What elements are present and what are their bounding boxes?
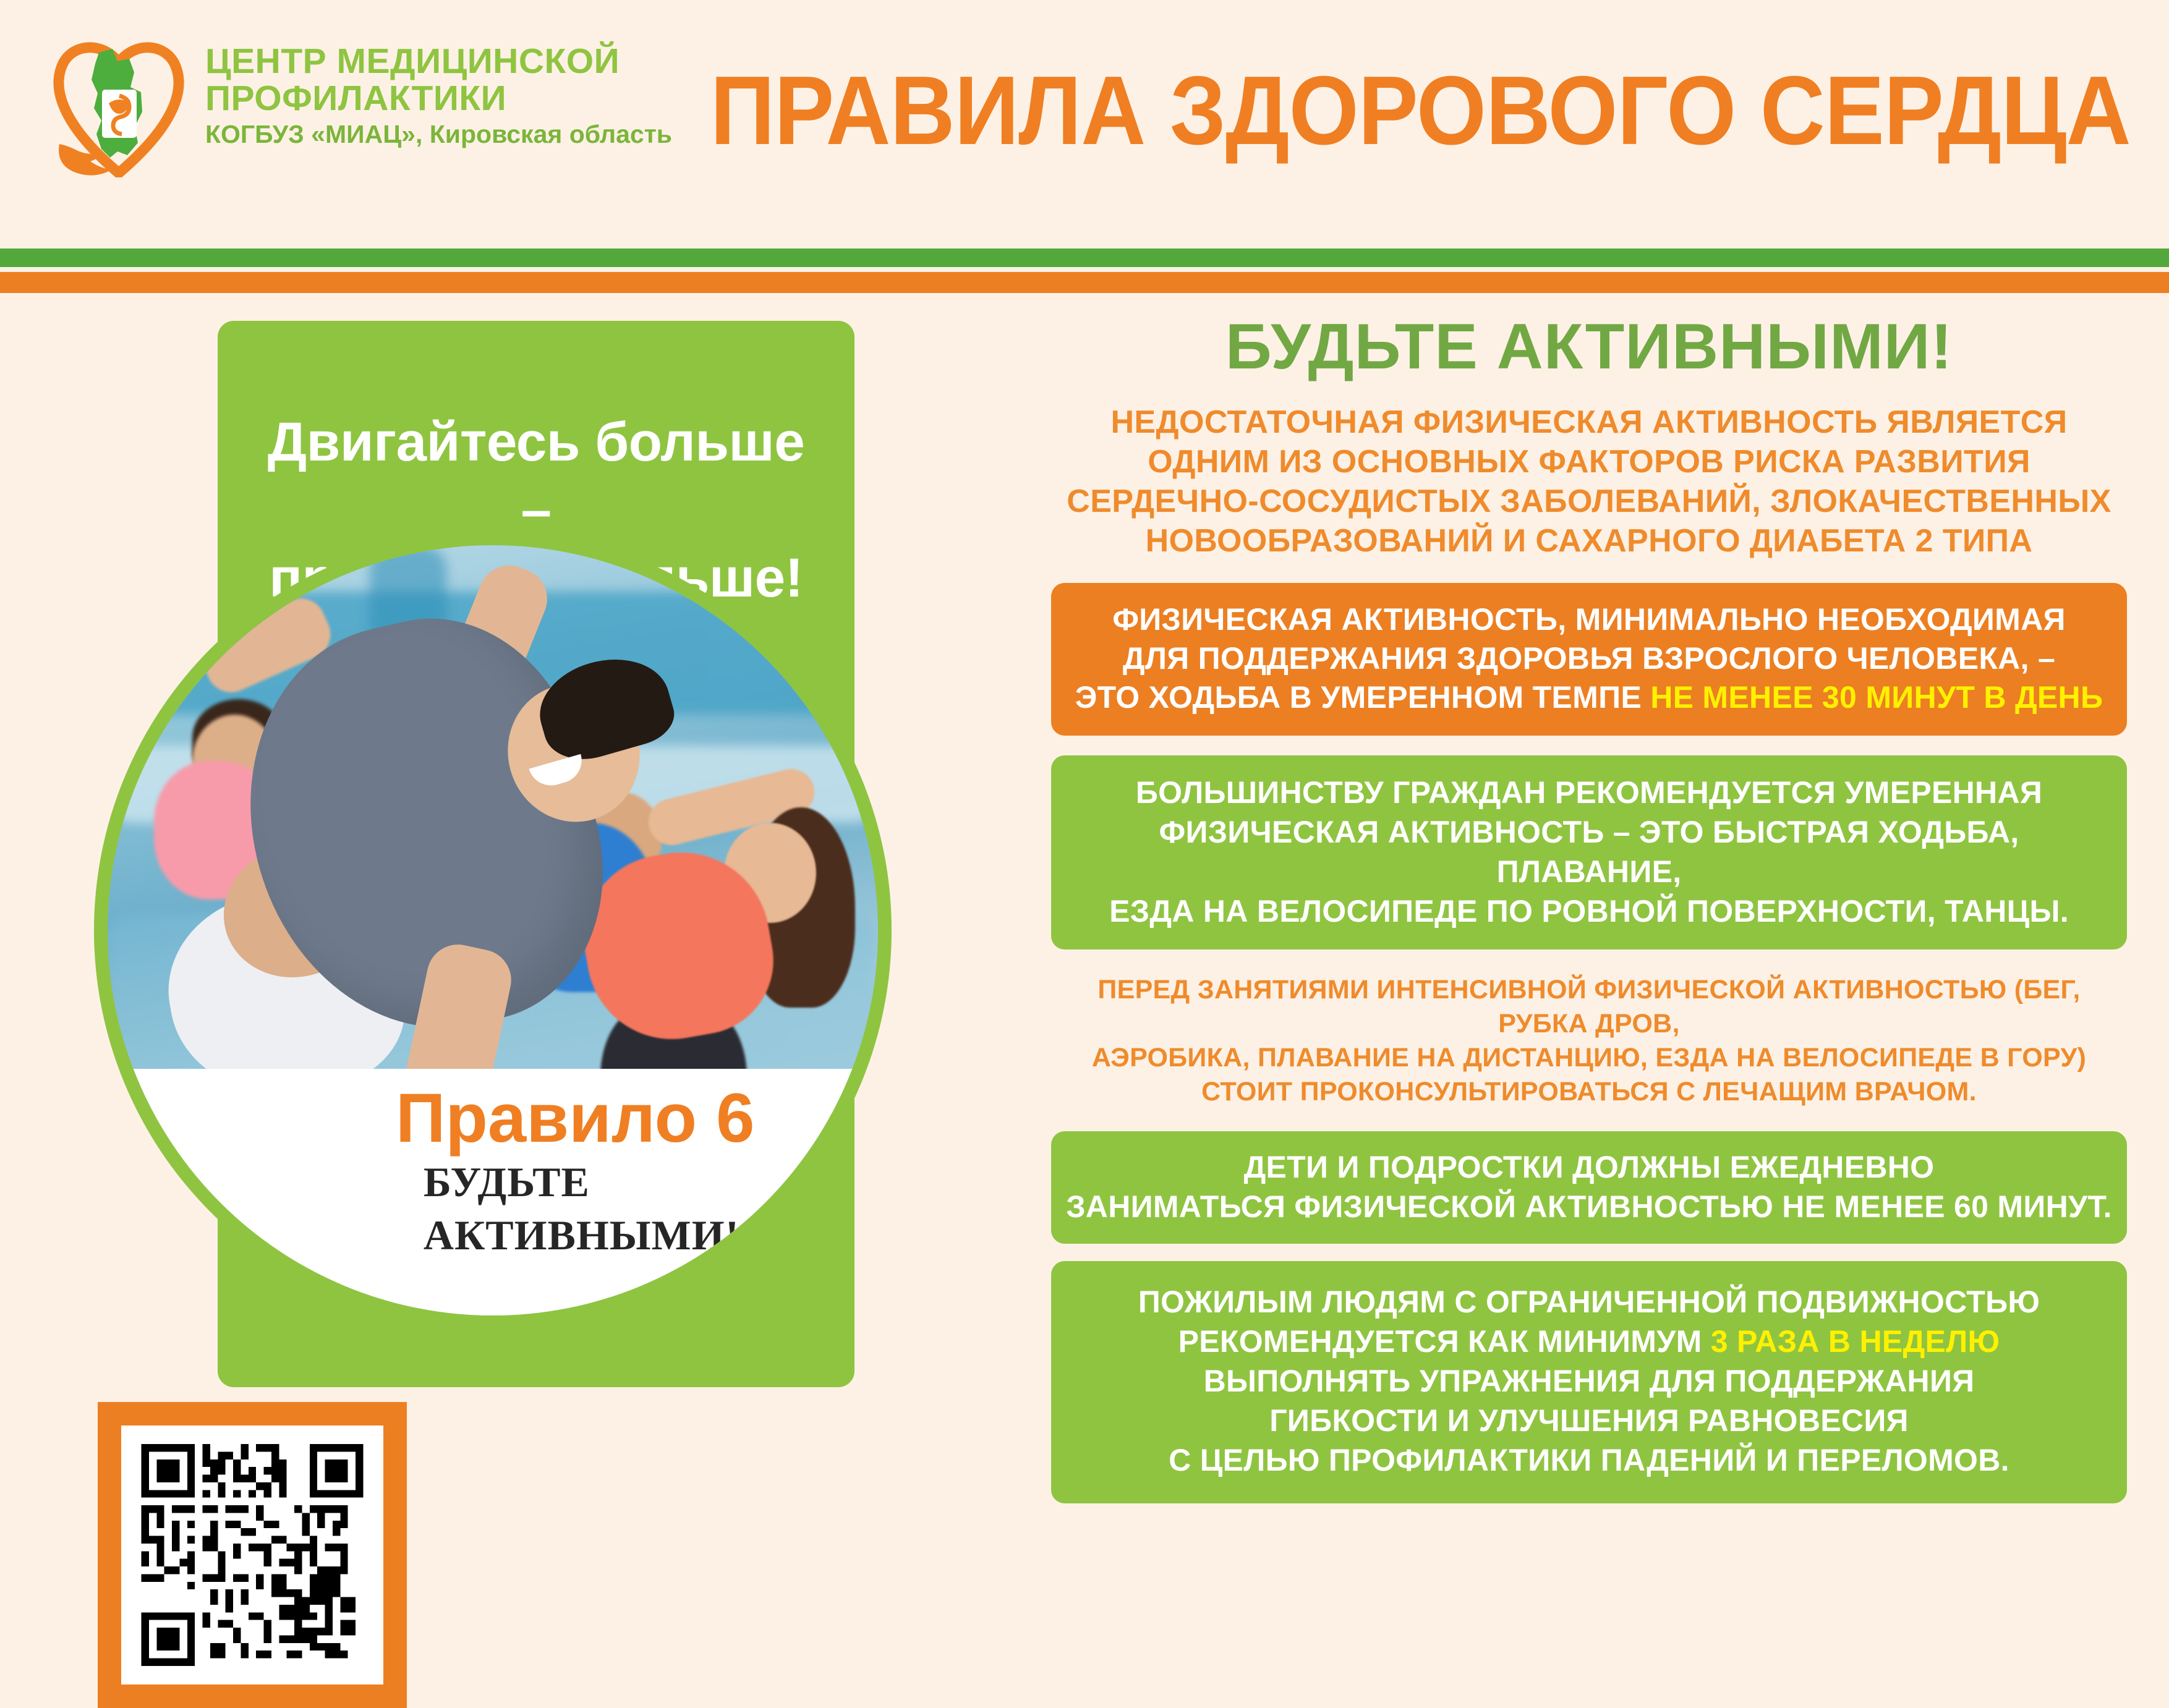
divider-bar-orange — [0, 272, 2169, 293]
logo-line-1: ЦЕНТР МЕДИЦИНСКОЙ — [205, 43, 672, 80]
info-line-plain: ЭТО ХОДЬБА В УМЕРЕННОМ ТЕМПЕ — [1075, 680, 1650, 715]
page-title: ПРАВИЛА ЗДОРОВОГО СЕРДЦА — [710, 62, 2131, 159]
intro-line: НЕДОСТАТОЧНАЯ ФИЗИЧЕСКАЯ АКТИВНОСТЬ ЯВЛЯ… — [1051, 402, 2127, 442]
info-line: БОЛЬШИНСТВУ ГРАЖДАН РЕКОМЕНДУЕТСЯ УМЕРЕН… — [1066, 773, 2112, 812]
photo-circle: БУДЬТЕ АКТИВНЫМИ! — [94, 532, 892, 1329]
left-visual-column: Двигайтесь больше – проживете дольше! — [0, 312, 965, 1499]
intro-line: НОВООБРАЗОВАНИЙ И САХАРНОГО ДИАБЕТА 2 ТИ… — [1051, 521, 2127, 561]
organization-name: ЦЕНТР МЕДИЦИНСКОЙ ПРОФИЛАКТИКИ КОГБУЗ «М… — [205, 34, 672, 151]
info-line: ВЫПОЛНЯТЬ УПРАЖНЕНИЯ ДЛЯ ПОДДЕРЖАНИЯ — [1066, 1361, 2112, 1401]
right-content-column: БУДЬТЕ АКТИВНЫМИ! НЕДОСТАТОЧНАЯ ФИЗИЧЕСК… — [1051, 312, 2127, 1503]
info-line: АЭРОБИКА, ПЛАВАНИЕ НА ДИСТАНЦИЮ, ЕЗДА НА… — [1057, 1041, 2121, 1075]
info-line: ЭТО ХОДЬБА В УМЕРЕННОМ ТЕМПЕ НЕ МЕНЕЕ 30… — [1065, 678, 2113, 717]
qr-code-quiet-zone — [121, 1425, 383, 1685]
circle-caption: БУДЬТЕ АКТИВНЫМИ! — [424, 1155, 847, 1262]
info-line: ФИЗИЧЕСКАЯ АКТИВНОСТЬ, МИНИМАЛЬНО НЕОБХО… — [1065, 600, 2113, 639]
logo-line-2: ПРОФИЛАКТИКИ — [205, 80, 672, 117]
info-block-consult-doctor: ПЕРЕД ЗАНЯТИЯМИ ИНТЕНСИВНОЙ ФИЗИЧЕСКОЙ А… — [1051, 959, 2127, 1123]
info-line: ЗАНИМАТЬСЯ ФИЗИЧЕСКОЙ АКТИВНОСТЬЮ НЕ МЕН… — [1066, 1187, 2112, 1226]
highlight-30-minutes: НЕ МЕНЕЕ 30 МИНУТ В ДЕНЬ — [1650, 680, 2103, 715]
info-line: ПОЖИЛЫМ ЛЮДЯМ С ОГРАНИЧЕННОЙ ПОДВИЖНОСТЬ… — [1066, 1282, 2112, 1322]
info-line: ПЕРЕД ЗАНЯТИЯМИ ИНТЕНСИВНОЙ ФИЗИЧЕСКОЙ А… — [1057, 973, 2121, 1041]
qr-code-frame[interactable] — [98, 1402, 407, 1708]
heart-map-caduceus-logo-icon — [48, 34, 189, 177]
aerobics-photo: БУДЬТЕ АКТИВНЫМИ! — [108, 545, 878, 1315]
slogan-line-1: Двигайтесь больше – — [255, 407, 817, 543]
intro-line: СЕРДЕЧНО-СОСУДИСТЫХ ЗАБОЛЕВАНИЙ, ЗЛОКАЧЕ… — [1051, 482, 2127, 521]
intro-paragraph: НЕДОСТАТОЧНАЯ ФИЗИЧЕСКАЯ АКТИВНОСТЬ ЯВЛЯ… — [1051, 402, 2127, 561]
divider-bar-green — [0, 249, 2169, 267]
info-line-plain: РЕКОМЕНДУЕТСЯ КАК МИНИМУМ — [1178, 1324, 1711, 1359]
logo-line-3: КОГБУЗ «МИАЦ», Кировская область — [205, 117, 672, 151]
section-heading: БУДЬТЕ АКТИВНЫМИ! — [1051, 312, 2127, 381]
highlight-3-times-week: 3 РАЗА В НЕДЕЛЮ — [1711, 1324, 2000, 1359]
circle-caption-line-2: АКТИВНЫМИ! — [424, 1209, 847, 1262]
info-block-minimum-activity: ФИЗИЧЕСКАЯ АКТИВНОСТЬ, МИНИМАЛЬНО НЕОБХО… — [1051, 583, 2127, 736]
circle-caption-line-1: БУДЬТЕ — [424, 1155, 847, 1209]
info-line: ДЛЯ ПОДДЕРЖАНИЯ ЗДОРОВЬЯ ВЗРОСЛОГО ЧЕЛОВ… — [1065, 639, 2113, 678]
poster-header: ЦЕНТР МЕДИЦИНСКОЙ ПРОФИЛАКТИКИ КОГБУЗ «М… — [0, 0, 2169, 247]
intro-line: ОДНИМ ИЗ ОСНОВНЫХ ФАКТОРОВ РИСКА РАЗВИТИ… — [1051, 442, 2127, 482]
info-line: ФИЗИЧЕСКАЯ АКТИВНОСТЬ – ЭТО БЫСТРАЯ ХОДЬ… — [1066, 812, 2112, 891]
info-line: ГИБКОСТИ И УЛУЧШЕНИЯ РАВНОВЕСИЯ — [1066, 1401, 2112, 1440]
info-line: РЕКОМЕНДУЕТСЯ КАК МИНИМУМ 3 РАЗА В НЕДЕЛ… — [1066, 1322, 2112, 1361]
info-line: СТОИТ ПРОКОНСУЛЬТИРОВАТЬСЯ С ЛЕЧАЩИМ ВРА… — [1057, 1075, 2121, 1109]
info-block-elderly: ПОЖИЛЫМ ЛЮДЯМ С ОГРАНИЧЕННОЙ ПОДВИЖНОСТЬ… — [1051, 1261, 2127, 1503]
qr-code-icon[interactable] — [140, 1444, 365, 1666]
info-block-children: ДЕТИ И ПОДРОСТКИ ДОЛЖНЫ ЕЖЕДНЕВНО ЗАНИМА… — [1051, 1131, 2127, 1244]
info-line: ДЕТИ И ПОДРОСТКИ ДОЛЖНЫ ЕЖЕДНЕВНО — [1066, 1147, 2112, 1187]
organization-logo-block: ЦЕНТР МЕДИЦИНСКОЙ ПРОФИЛАКТИКИ КОГБУЗ «М… — [48, 34, 672, 177]
info-line: С ЦЕЛЬЮ ПРОФИЛАКТИКИ ПАДЕНИЙ И ПЕРЕЛОМОВ… — [1066, 1440, 2112, 1480]
rule-number-badge: Правило 6 — [396, 1084, 767, 1153]
info-block-moderate-activity: БОЛЬШИНСТВУ ГРАЖДАН РЕКОМЕНДУЕТСЯ УМЕРЕН… — [1051, 755, 2127, 950]
info-line: ЕЗДА НА ВЕЛОСИПЕДЕ ПО РОВНОЙ ПОВЕРХНОСТИ… — [1066, 891, 2112, 931]
